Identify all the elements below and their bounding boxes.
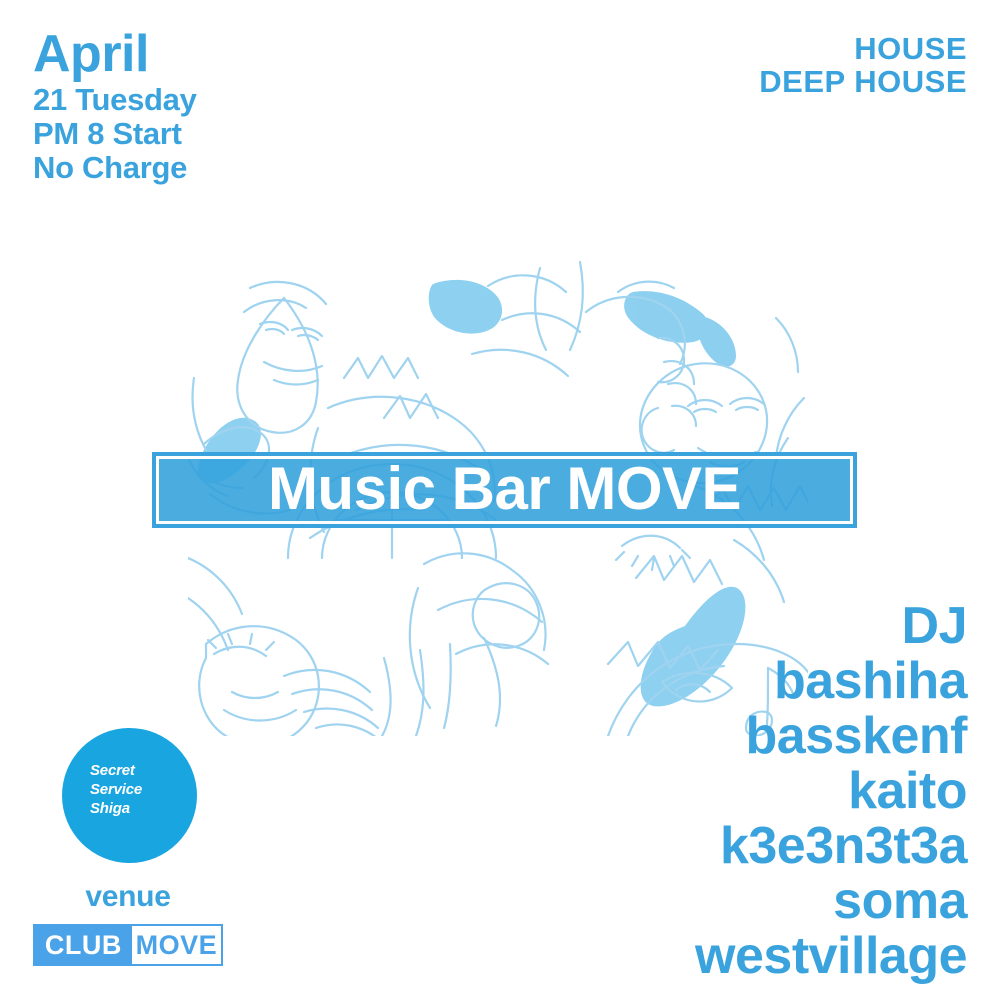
dj-artist: kaito (695, 765, 967, 818)
event-price: No Charge (33, 152, 197, 183)
secret-service-badge: Secret Service Shiga (62, 728, 197, 863)
venue-label: venue (33, 880, 223, 914)
badge-text-block: Secret Service Shiga (90, 762, 142, 819)
genre-primary: HOUSE (759, 32, 967, 65)
badge-line-2: Service (90, 781, 142, 800)
dj-artist: basskenf (695, 710, 967, 763)
dj-artist: bashiha (695, 655, 967, 708)
event-poster: April 21 Tuesday PM 8 Start No Charge HO… (0, 0, 1000, 1000)
logo-word-move: MOVE (132, 926, 221, 964)
badge-line-3: Shiga (90, 800, 142, 819)
event-month: April (33, 28, 197, 80)
dj-artist: westvillage (695, 930, 967, 983)
genre-secondary: DEEP HOUSE (759, 65, 967, 98)
logo-word-club: CLUB (35, 926, 132, 964)
poster-title-banner: Music Bar MOVE (152, 452, 857, 528)
dj-artist: soma (695, 875, 967, 928)
club-move-logo: CLUB MOVE (33, 924, 223, 966)
genre-block: HOUSE DEEP HOUSE (759, 32, 967, 99)
poster-title: Music Bar MOVE (268, 459, 741, 519)
event-date-block: April 21 Tuesday PM 8 Start No Charge (33, 28, 197, 186)
dj-artist: k3e3n3t3a (695, 820, 967, 873)
event-start-time: PM 8 Start (33, 118, 197, 149)
badge-line-1: Secret (90, 762, 142, 781)
dj-lineup: DJ bashiha basskenf kaito k3e3n3t3a soma… (695, 600, 967, 985)
event-day: 21 Tuesday (33, 84, 197, 115)
dj-lineup-heading: DJ (695, 600, 967, 653)
